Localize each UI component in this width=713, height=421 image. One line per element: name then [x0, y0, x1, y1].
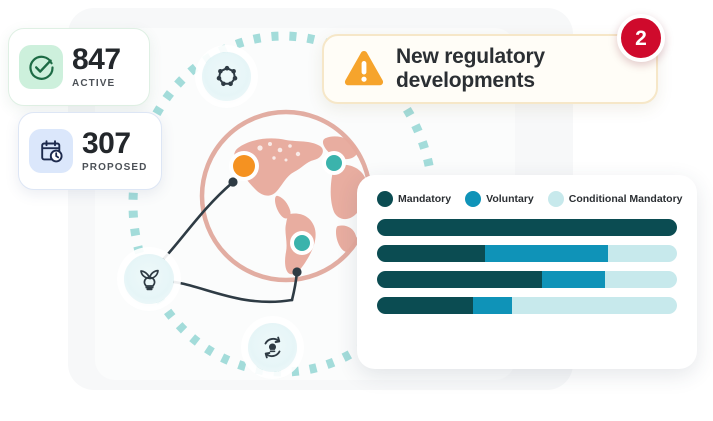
- bar-segment-mandatory: [377, 297, 473, 314]
- stacked-bar-row: [377, 219, 677, 236]
- bar-segment-mandatory: [377, 271, 542, 288]
- notification-badge[interactable]: 2: [617, 14, 665, 62]
- warning-triangle-glyph: [341, 48, 387, 90]
- alert-line-1: New regulatory: [396, 45, 545, 69]
- legend-item-conditional-mandatory[interactable]: Conditional Mandatory: [548, 191, 683, 207]
- legend-label-mandatory: Mandatory: [398, 193, 451, 205]
- stacked-bar-row: [377, 271, 677, 288]
- bar-segment-mandatory: [377, 245, 485, 262]
- legend-item-voluntary[interactable]: Voluntary: [465, 191, 534, 207]
- legend-dot-mandatory: [377, 191, 393, 207]
- legend-dot-voluntary: [465, 191, 481, 207]
- regulation-type-chart-card: Mandatory Voluntary Conditional Mandator…: [357, 175, 697, 369]
- network-nodes-icon[interactable]: [202, 52, 251, 101]
- legend-label-conditional-mandatory: Conditional Mandatory: [569, 193, 683, 205]
- warning-triangle-icon: [338, 48, 390, 90]
- bar-segment-mandatory: [377, 219, 677, 236]
- eco-lightbulb-icon[interactable]: [124, 254, 174, 304]
- alert-line-2: developments: [396, 69, 545, 93]
- notification-badge-count: 2: [635, 28, 647, 49]
- stacked-bar-list: [377, 219, 677, 314]
- active-stat-value: 847: [72, 45, 121, 76]
- dashboard-illustration: 847 ACTIVE 307 PROPOSED: [0, 0, 713, 421]
- bar-segment-conditional-mandatory: [512, 297, 677, 314]
- alert-message: New regulatory developments: [396, 45, 545, 92]
- stacked-bar-row: [377, 245, 677, 262]
- regulatory-alert-banner[interactable]: New regulatory developments: [322, 34, 658, 104]
- recycle-lightbulb-icon[interactable]: [248, 323, 297, 372]
- legend-label-voluntary: Voluntary: [486, 193, 534, 205]
- recycle-lightbulb-glyph: [259, 334, 286, 361]
- proposed-stat-value: 307: [82, 129, 147, 160]
- bar-segment-conditional-mandatory: [605, 271, 677, 288]
- stacked-bar-row: [377, 297, 677, 314]
- world-map-globe: [186, 96, 386, 296]
- active-stat-text: 847 ACTIVE: [72, 45, 121, 89]
- bar-segment-voluntary: [542, 271, 605, 288]
- calendar-clock-glyph: [38, 138, 65, 165]
- active-stat-label: ACTIVE: [72, 78, 121, 89]
- eco-lightbulb-glyph: [136, 266, 163, 293]
- active-stat-card[interactable]: 847 ACTIVE: [8, 28, 150, 106]
- proposed-stat-card[interactable]: 307 PROPOSED: [18, 112, 162, 190]
- network-nodes-glyph: [214, 64, 240, 90]
- bar-segment-voluntary: [473, 297, 512, 314]
- chart-legend: Mandatory Voluntary Conditional Mandator…: [377, 191, 677, 207]
- check-circle-icon: [19, 45, 63, 89]
- legend-item-mandatory[interactable]: Mandatory: [377, 191, 451, 207]
- proposed-stat-text: 307 PROPOSED: [82, 129, 147, 173]
- proposed-stat-label: PROPOSED: [82, 162, 147, 173]
- bar-segment-voluntary: [485, 245, 608, 262]
- bar-segment-conditional-mandatory: [608, 245, 677, 262]
- check-circle-glyph: [28, 54, 55, 81]
- calendar-clock-icon: [29, 129, 73, 173]
- legend-dot-conditional-mandatory: [548, 191, 564, 207]
